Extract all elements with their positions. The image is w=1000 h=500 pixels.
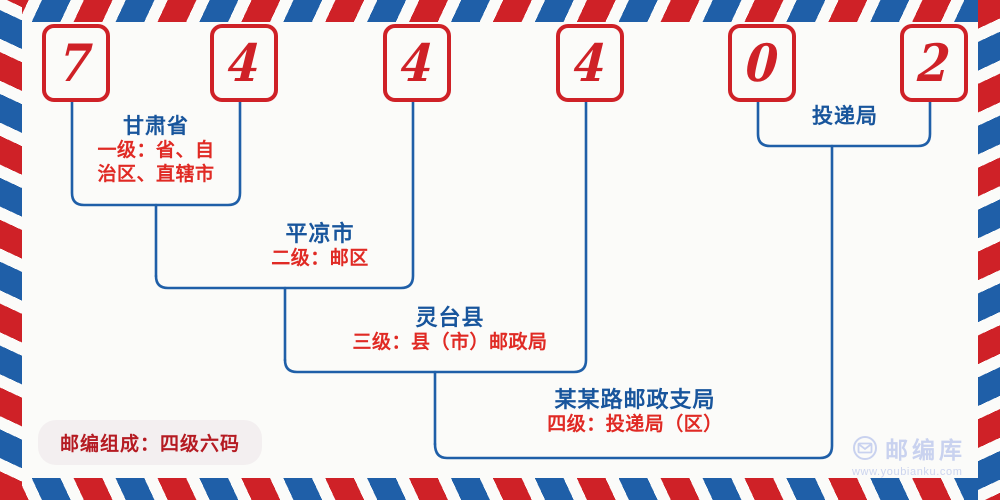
watermark: 邮编库 www.youbianku.com	[852, 431, 966, 478]
level-4-label: 某某路邮政支局 四级：投递局（区）	[470, 388, 800, 436]
airmail-border-top	[0, 0, 1000, 22]
airmail-border-bottom	[0, 478, 1000, 500]
digit-glyph: 0	[744, 37, 780, 89]
postcode-digit-1[interactable]: 7	[42, 24, 110, 102]
digit-glyph: 2	[916, 37, 952, 89]
level-1-name: 甘肃省	[66, 114, 246, 139]
postcode-digit-5[interactable]: 0	[728, 24, 796, 102]
level-4-desc: 四级：投递局（区）	[470, 414, 800, 436]
digit-glyph: 7	[58, 37, 94, 89]
postcode-digit-4[interactable]: 4	[556, 24, 624, 102]
caption-badge: 邮编组成：四级六码	[38, 420, 262, 465]
level-1-label: 甘肃省 一级：省、自 治区、直辖市	[66, 114, 246, 187]
level-3-desc: 三级：县（市）邮政局	[300, 332, 600, 354]
delivery-office-name: 投递局	[760, 104, 930, 129]
digit-glyph: 4	[572, 37, 608, 89]
level-3-name: 灵台县	[300, 306, 600, 332]
level-2-name: 平凉市	[190, 222, 450, 248]
airmail-border-left	[0, 0, 22, 500]
digit-glyph: 4	[399, 37, 435, 89]
postcode-digit-3[interactable]: 4	[383, 24, 451, 102]
envelope-circle-icon	[852, 435, 878, 461]
postcode-digit-2[interactable]: 4	[210, 24, 278, 102]
level-4-name: 某某路邮政支局	[470, 388, 800, 414]
airmail-border-right	[978, 0, 1000, 500]
envelope-postcode-diagram: 7 4 4 4 0 2 甘肃省 一级：省、自 治区、直辖市 平凉市 二级：邮区 …	[0, 0, 1000, 500]
postcode-digit-6[interactable]: 2	[900, 24, 968, 102]
level-2-label: 平凉市 二级：邮区	[190, 222, 450, 270]
delivery-office-label: 投递局	[760, 104, 930, 129]
digit-glyph: 4	[226, 37, 262, 89]
level-3-label: 灵台县 三级：县（市）邮政局	[300, 306, 600, 354]
watermark-url: www.youbianku.com	[852, 466, 966, 478]
level-2-desc: 二级：邮区	[190, 248, 450, 270]
level-1-desc: 一级：省、自 治区、直辖市	[66, 139, 246, 188]
watermark-text: 邮编库	[885, 431, 966, 465]
